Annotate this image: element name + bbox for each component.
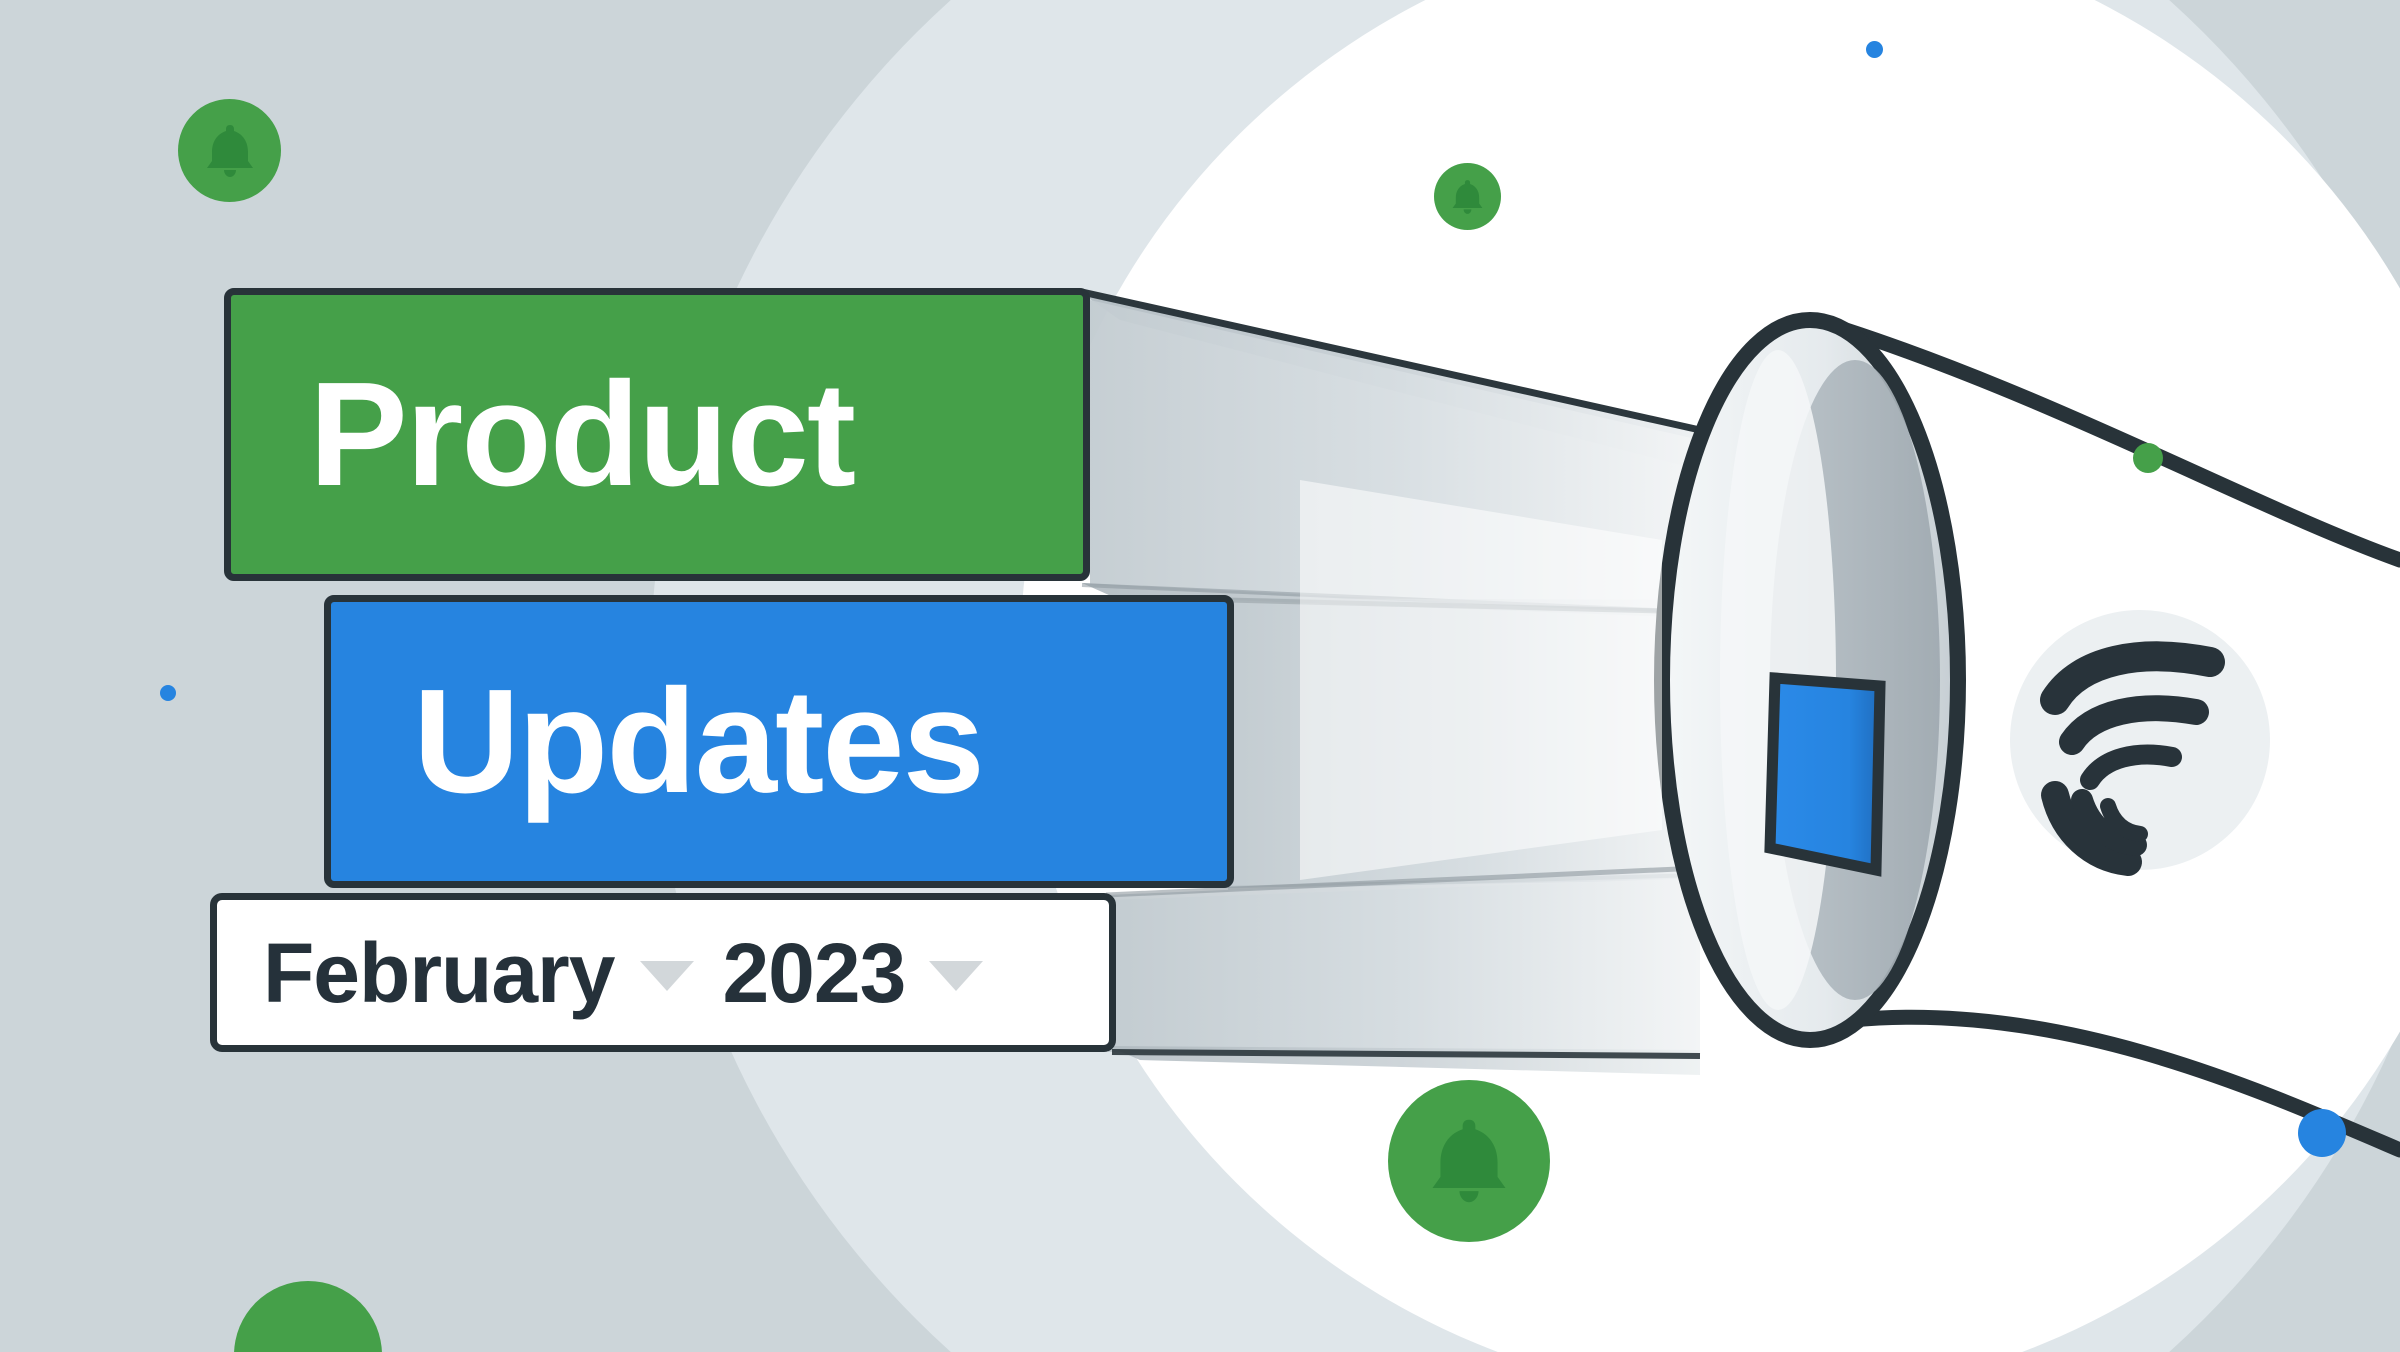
bell-icon [203,122,257,180]
date-selector-row: February 2023 [217,931,1109,1015]
chevron-down-icon[interactable] [929,961,983,991]
decorative-dot [2133,443,2163,473]
bell-icon [1426,1115,1512,1207]
bell-badge [1388,1080,1550,1242]
bell-icon [1450,178,1485,216]
decorative-dot [2298,1109,2346,1157]
chevron-down-icon[interactable] [640,961,694,991]
bell-badge [1434,163,1501,230]
extrusion-date [1106,868,1700,1075]
product-card: Product [224,288,1090,581]
decorative-dot [1866,41,1883,58]
month-value[interactable]: February [263,931,614,1015]
banner-canvas: Product Updates February 2023 [0,0,2400,1352]
soundwave-logo-icon [2010,610,2270,870]
product-card-label: Product [231,361,854,509]
date-selector-bar: February 2023 [210,893,1116,1052]
year-value[interactable]: 2023 [722,931,905,1015]
bell-badge [178,99,281,202]
updates-card-label: Updates [331,668,983,816]
updates-card: Updates [324,595,1234,888]
megaphone-mouth-patch [1770,678,1880,870]
decorative-dot [160,685,176,701]
